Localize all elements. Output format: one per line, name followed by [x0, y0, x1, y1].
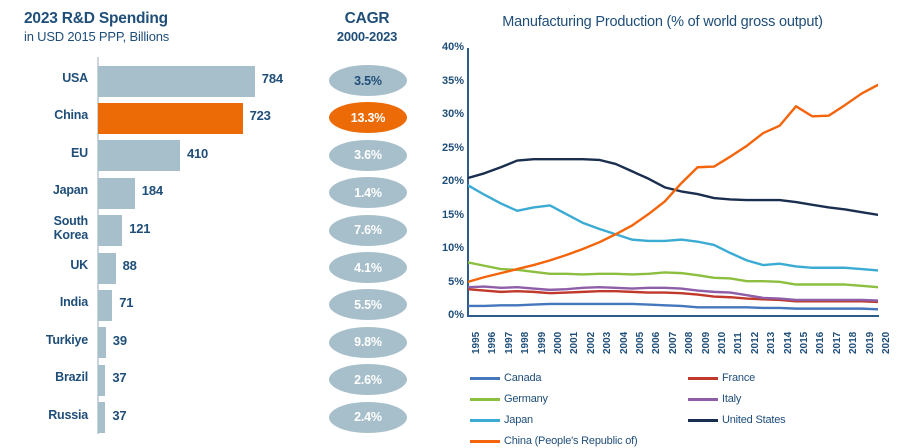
- y-axis-tick: 5%: [424, 276, 464, 288]
- cagr-pill: 9.8%: [329, 327, 407, 358]
- x-axis-tick: 2009: [701, 332, 712, 354]
- bar-row-label: China: [2, 108, 88, 122]
- x-axis-tick: 2018: [848, 332, 859, 354]
- bar-row: USA784: [0, 62, 312, 100]
- bar-row-label: SouthKorea: [2, 214, 88, 242]
- y-axis-tick: 0%: [424, 309, 464, 321]
- legend-label: United States: [722, 414, 785, 426]
- bar-row: Brazil37: [0, 361, 312, 399]
- cagr-pill: 2.4%: [329, 402, 407, 433]
- legend-swatch-icon: [470, 440, 500, 443]
- bar-panel-title: 2023 R&D Spending: [24, 10, 168, 28]
- y-axis-tick: 35%: [424, 75, 464, 87]
- bar-rect: [98, 66, 255, 97]
- x-axis-tick: 2010: [717, 332, 728, 354]
- bar-value-label: 723: [250, 108, 271, 123]
- bar-value-label: 121: [129, 221, 150, 236]
- x-axis-tick: 1999: [537, 332, 548, 354]
- legend-item: China (People's Republic of): [470, 435, 637, 447]
- bar-value-label: 71: [119, 295, 133, 310]
- cagr-panel-title: CAGR: [312, 10, 422, 28]
- cagr-pill: 3.5%: [329, 65, 407, 96]
- cagr-pill: 3.6%: [329, 140, 407, 171]
- bar-rect: [98, 365, 105, 396]
- bar-row-label: EU: [2, 146, 88, 160]
- line-chart-title: Manufacturing Production (% of world gro…: [422, 14, 903, 30]
- x-axis-tick: 2019: [865, 332, 876, 354]
- line-series-united-states: [468, 159, 878, 215]
- legend-label: China (People's Republic of): [504, 435, 637, 447]
- legend-label: Canada: [504, 372, 541, 384]
- legend-item: Japan: [470, 414, 533, 426]
- x-axis-tick: 2000: [553, 332, 564, 354]
- bar-rect: [98, 290, 112, 321]
- bar-rect: [98, 327, 106, 358]
- rd-spending-bar-panel: 2023 R&D Spending in USD 2015 PPP, Billi…: [0, 0, 312, 448]
- x-axis-tick: 2003: [602, 332, 613, 354]
- bar-value-label: 410: [187, 146, 208, 161]
- bar-row-label: Russia: [2, 408, 88, 422]
- bar-row-label: UK: [2, 258, 88, 272]
- x-axis-tick: 2016: [815, 332, 826, 354]
- bar-rect: [98, 140, 180, 171]
- bar-row: Japan184: [0, 174, 312, 212]
- cagr-pill: 2.6%: [329, 364, 407, 395]
- cagr-pill: 4.1%: [329, 252, 407, 283]
- legend-swatch-icon: [470, 419, 500, 422]
- bar-row: India71: [0, 286, 312, 324]
- x-axis-tick: 2011: [733, 332, 744, 354]
- x-axis-tick-labels: 1995199619971998199920002001200220032004…: [467, 320, 879, 370]
- x-axis-tick: 1997: [504, 332, 515, 354]
- bar-row-label: Brazil: [2, 370, 88, 384]
- bar-row: Russia37: [0, 399, 312, 437]
- legend-label: Italy: [722, 393, 741, 405]
- legend-item: Canada: [470, 372, 541, 384]
- bar-value-label: 39: [113, 333, 127, 348]
- x-axis-tick: 2013: [766, 332, 777, 354]
- x-axis-tick: 2004: [619, 332, 630, 354]
- bar-rect: [98, 253, 116, 284]
- x-axis-tick: 2001: [569, 332, 580, 354]
- bar-row: China723: [0, 99, 312, 137]
- bar-row: Turkiye39: [0, 324, 312, 362]
- bar-row: SouthKorea121: [0, 212, 312, 250]
- y-axis-tick-labels: 0%5%10%15%20%25%30%35%40%: [422, 48, 464, 316]
- line-chart-plot-area: [468, 48, 878, 316]
- bar-panel-subtitle: in USD 2015 PPP, Billions: [24, 29, 169, 44]
- legend-swatch-icon: [470, 377, 500, 380]
- x-axis-tick: 2017: [832, 332, 843, 354]
- bar-value-label: 37: [112, 370, 126, 385]
- y-axis-tick: 25%: [424, 142, 464, 154]
- legend-item: Germany: [470, 393, 548, 405]
- x-axis-tick: 1995: [471, 332, 482, 354]
- x-axis-tick: 2005: [635, 332, 646, 354]
- cagr-panel: CAGR 2000-2023 3.5%13.3%3.6%1.4%7.6%4.1%…: [312, 0, 422, 448]
- legend-label: Germany: [504, 393, 548, 405]
- x-axis-tick: 2007: [668, 332, 679, 354]
- cagr-pill: 7.6%: [329, 215, 407, 246]
- legend-item: Italy: [688, 393, 741, 405]
- line-series-china-people-s-republic-of: [468, 85, 878, 282]
- legend-item: United States: [688, 414, 785, 426]
- x-axis-tick: 2015: [799, 332, 810, 354]
- x-axis-tick: 2002: [586, 332, 597, 354]
- bar-row: EU410: [0, 137, 312, 175]
- bar-row-label: USA: [2, 71, 88, 85]
- bar-rect: [98, 215, 122, 246]
- y-axis-tick: 20%: [424, 175, 464, 187]
- x-axis-tick: 2014: [783, 332, 794, 354]
- cagr-pill: 1.4%: [329, 177, 407, 208]
- legend-swatch-icon: [470, 398, 500, 401]
- bar-value-label: 37: [112, 408, 126, 423]
- x-axis-tick: 2020: [881, 332, 892, 354]
- bar-rect: [98, 402, 105, 433]
- line-chart-legend: CanadaFranceGermanyItalyJapanUnited Stat…: [470, 372, 903, 448]
- bar-row-label: Turkiye: [2, 333, 88, 347]
- bar-rect: [98, 103, 243, 134]
- x-axis-tick: 1996: [487, 332, 498, 354]
- bar-rect: [98, 178, 135, 209]
- y-axis-tick: 40%: [424, 41, 464, 53]
- cagr-pill: 13.3%: [329, 102, 407, 133]
- bar-row-label: India: [2, 295, 88, 309]
- cagr-pill: 5.5%: [329, 289, 407, 320]
- line-series-japan: [468, 185, 878, 270]
- x-axis-tick: 2012: [750, 332, 761, 354]
- line-series-canada: [468, 304, 878, 309]
- manufacturing-production-line-panel: Manufacturing Production (% of world gro…: [422, 0, 903, 448]
- bar-row: UK88: [0, 249, 312, 287]
- x-axis-tick: 2006: [651, 332, 662, 354]
- x-axis-tick: 1998: [520, 332, 531, 354]
- bar-row-label: Japan: [2, 183, 88, 197]
- legend-swatch-icon: [688, 398, 718, 401]
- y-axis-tick: 15%: [424, 209, 464, 221]
- legend-swatch-icon: [688, 377, 718, 380]
- legend-label: France: [722, 372, 755, 384]
- bar-value-label: 784: [262, 71, 283, 86]
- legend-label: Japan: [504, 414, 533, 426]
- legend-item: France: [688, 372, 755, 384]
- y-axis-tick: 30%: [424, 108, 464, 120]
- legend-swatch-icon: [688, 419, 718, 422]
- cagr-panel-subtitle: 2000-2023: [312, 29, 422, 44]
- bar-value-label: 88: [123, 258, 137, 273]
- y-axis-tick: 10%: [424, 242, 464, 254]
- bar-value-label: 184: [142, 183, 163, 198]
- x-axis-tick: 2008: [684, 332, 695, 354]
